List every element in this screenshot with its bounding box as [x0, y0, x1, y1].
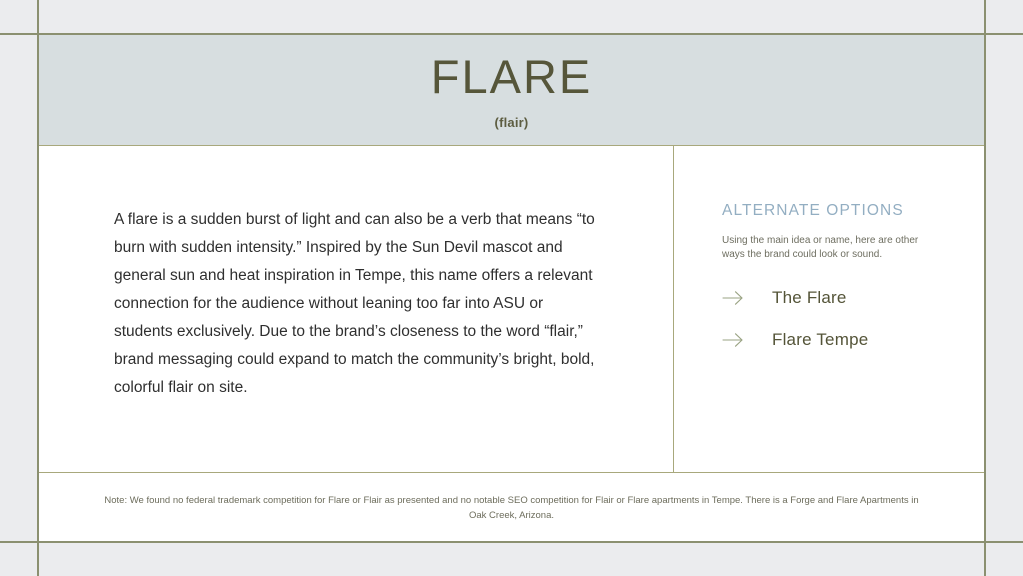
header-band: FLARE (flair): [38, 34, 985, 146]
alternate-options-heading: ALTERNATE OPTIONS: [722, 202, 955, 220]
brand-description-text: A flare is a sudden burst of light and c…: [114, 206, 600, 402]
alternate-options-subtitle: Using the main idea or name, here are ot…: [722, 234, 932, 262]
alternate-options-list: The Flare Flare Tempe: [722, 288, 955, 350]
brand-name-slide: FLARE (flair) A flare is a sudden burst …: [38, 34, 985, 542]
slide-body: A flare is a sudden burst of light and c…: [38, 146, 985, 473]
list-item[interactable]: The Flare: [722, 288, 955, 308]
guide-line-top: [0, 33, 1023, 35]
alternate-options-column: ALTERNATE OPTIONS Using the main idea or…: [674, 146, 985, 472]
arrow-right-icon: [722, 290, 744, 306]
footer-note: Note: We found no federal trademark comp…: [38, 473, 985, 542]
description-column: A flare is a sudden burst of light and c…: [38, 146, 674, 472]
footer-note-text: Note: We found no federal trademark comp…: [102, 493, 921, 523]
alternate-option-label: The Flare: [772, 288, 847, 308]
alternate-option-label: Flare Tempe: [772, 330, 868, 350]
brand-name-pronunciation: (flair): [495, 115, 529, 130]
guide-line-left: [37, 0, 39, 576]
list-item[interactable]: Flare Tempe: [722, 330, 955, 350]
brand-name-title: FLARE: [431, 53, 593, 100]
guide-line-right: [984, 0, 986, 576]
guide-line-bottom: [0, 541, 1023, 543]
arrow-right-icon: [722, 332, 744, 348]
